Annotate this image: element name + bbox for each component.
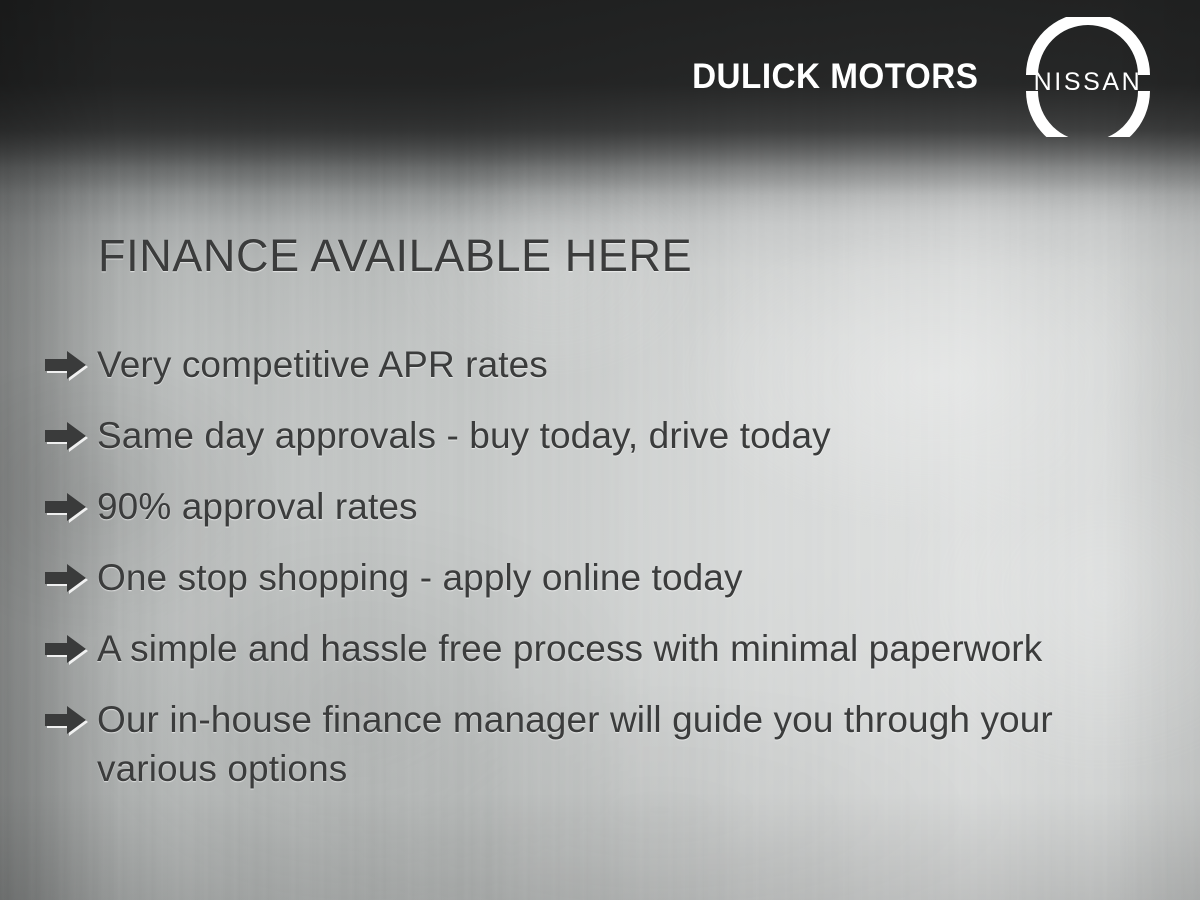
- dealership-brand-name: DULICK MOTORS: [692, 57, 978, 97]
- list-item-label: Very competitive APR rates: [97, 340, 548, 389]
- nissan-logo: NISSAN: [1012, 23, 1164, 137]
- benefits-list: Very competitive APR rates Same day appr…: [0, 340, 1200, 793]
- list-item-label: Same day approvals - buy today, drive to…: [97, 411, 831, 460]
- list-item-label: 90% approval rates: [97, 482, 418, 531]
- list-item: One stop shopping - apply online today: [0, 553, 1200, 602]
- list-item: 90% approval rates: [0, 482, 1200, 531]
- slide-content: FINANCE AVAILABLE HERE Very competitive …: [0, 200, 1200, 815]
- list-item: Very competitive APR rates: [0, 340, 1200, 389]
- right-arrow-icon: [45, 421, 87, 451]
- right-arrow-icon: [45, 350, 87, 380]
- list-item: Our in-house finance manager will guide …: [0, 695, 1200, 793]
- list-item: A simple and hassle free process with mi…: [0, 624, 1200, 673]
- list-item-label: A simple and hassle free process with mi…: [97, 624, 1042, 673]
- right-arrow-icon: [45, 563, 87, 593]
- right-arrow-icon: [45, 492, 87, 522]
- list-item-label: One stop shopping - apply online today: [97, 553, 743, 602]
- nissan-wordmark-text: NISSAN: [1034, 68, 1143, 96]
- nissan-logo-icon: NISSAN: [1012, 17, 1164, 137]
- slide-canvas: DULICK MOTORS NISSAN FINANCE AVAILABLE H…: [0, 0, 1200, 900]
- header-bar: DULICK MOTORS NISSAN: [0, 0, 1200, 160]
- list-item-label: Our in-house finance manager will guide …: [97, 695, 1147, 793]
- right-arrow-icon: [45, 705, 87, 735]
- right-arrow-icon: [45, 634, 87, 664]
- slide-title: FINANCE AVAILABLE HERE: [98, 230, 1200, 282]
- list-item: Same day approvals - buy today, drive to…: [0, 411, 1200, 460]
